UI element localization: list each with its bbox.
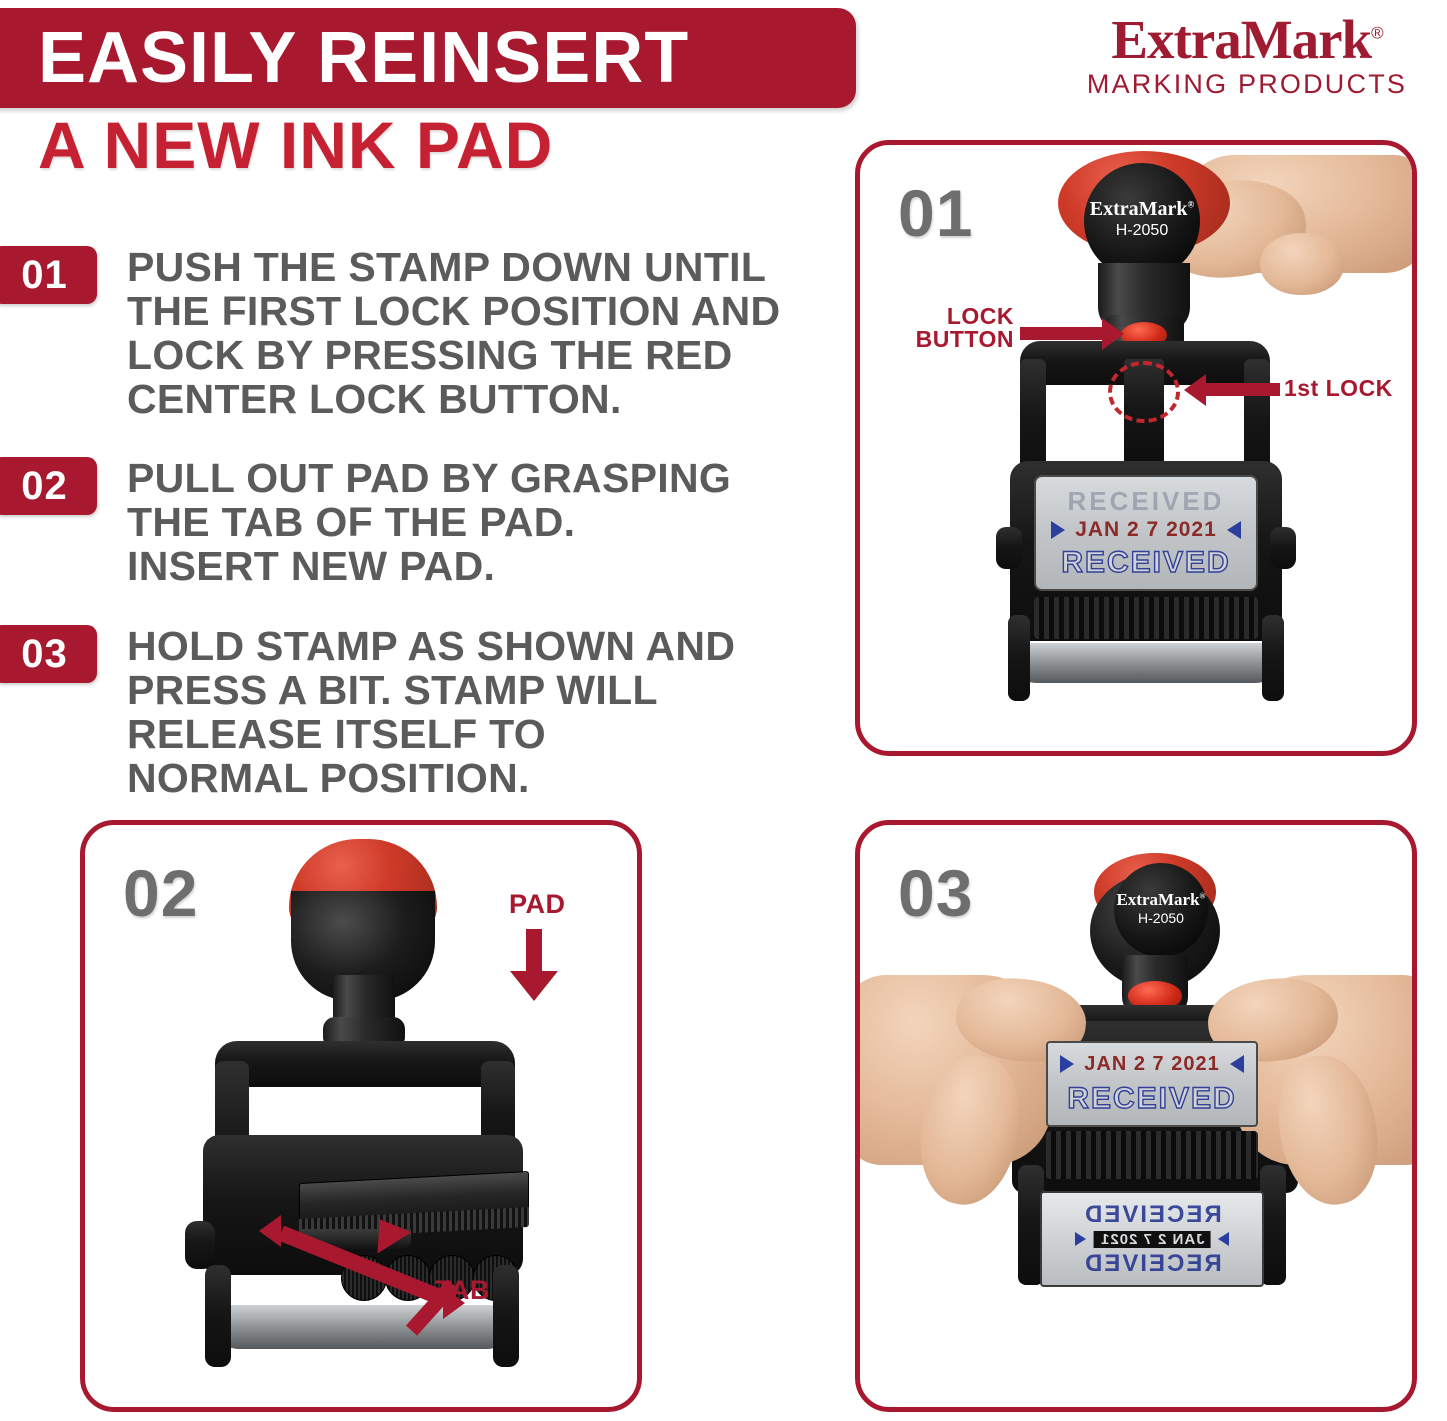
triangle-right-icon: [1075, 1232, 1086, 1246]
step-line: THE FIRST LOCK POSITION AND: [127, 290, 780, 334]
step-line: PUSH THE STAMP DOWN UNTIL: [127, 246, 780, 290]
stamp-cap-label: ExtraMark® H-2050: [1114, 863, 1208, 957]
plate-main-text: RECEIVED: [1048, 1082, 1256, 1116]
die-text-bottom: RECEIVED: [1083, 1250, 1222, 1278]
photo-panel-01: 01 ExtraMark® H-2050 RECEIVED: [855, 140, 1417, 756]
list-item: 01 PUSH THE STAMP DOWN UNTIL THE FIRST L…: [0, 246, 840, 421]
stamp-foot-left: [1008, 615, 1030, 701]
die-text-top: RECEIVED: [1083, 1201, 1222, 1229]
cap-model-text: H-2050: [1116, 219, 1168, 243]
stamp-base-plate: [1014, 643, 1278, 683]
list-item: 03 HOLD STAMP AS SHOWN AND PRESS A BIT. …: [0, 625, 840, 800]
lock-button-label-line1: LOCK: [874, 305, 1014, 328]
panel-number-03: 03: [898, 855, 973, 931]
mirrored-die-plate: RECEIVED JAN 2 7 2021 RECEIVED: [1040, 1191, 1264, 1287]
cap-brand-text: ExtraMark®: [1090, 199, 1195, 219]
step-line: CENTER LOCK BUTTON.: [127, 378, 780, 422]
date-text: JAN 2 7 2021: [1084, 1053, 1219, 1076]
step-line: PULL OUT PAD BY GRASPING: [127, 457, 731, 501]
stamp-side-knob-left: [185, 1221, 215, 1269]
photo-panel-02: 02 PAD TA: [80, 820, 642, 1412]
cap-model-text: H-2050: [1138, 908, 1184, 929]
first-lock-indicator: [1108, 361, 1180, 423]
date-text: JAN 2 7 2021: [1075, 518, 1217, 542]
date-wheel-strip: [1034, 597, 1258, 639]
brand-logo: ExtraMark® MARKING PRODUCTS: [1067, 12, 1427, 100]
logo-wordmark-text: ExtraMark: [1111, 9, 1371, 70]
page-title-line-2: A NEW INK PAD: [38, 112, 553, 178]
stamp-impression-plate: RECEIVED JAN 2 7 2021 RECEIVED: [1034, 475, 1258, 591]
list-item: 02 PULL OUT PAD BY GRASPING THE TAB OF T…: [0, 457, 840, 589]
title-banner: EASILY REINSERT: [0, 8, 856, 108]
die-date-text: JAN 2 7 2021: [1094, 1231, 1211, 1248]
date-wheel-strip: [1046, 1131, 1258, 1179]
triangle-left-icon: [1218, 1232, 1229, 1246]
plate-main-text: RECEIVED: [1036, 546, 1256, 580]
stamp-foot-right: [1262, 615, 1284, 701]
stamp-side-knob-right: [1270, 527, 1296, 569]
plate-ghost-text: RECEIVED: [1036, 486, 1256, 517]
lock-button-label-line2: BUTTON: [874, 328, 1014, 351]
step-text-01: PUSH THE STAMP DOWN UNTIL THE FIRST LOCK…: [127, 246, 780, 421]
triangle-right-icon: [1051, 521, 1065, 539]
tab-label: TAB: [435, 1277, 490, 1305]
step-badge-01: 01: [0, 246, 97, 304]
instruction-step-list: 01 PUSH THE STAMP DOWN UNTIL THE FIRST L…: [0, 246, 840, 836]
panel-number-01: 01: [898, 175, 973, 251]
step-line: PRESS A BIT. STAMP WILL: [127, 669, 735, 713]
logo-wordmark: ExtraMark®: [1067, 12, 1427, 67]
registered-trademark-icon: ®: [1371, 24, 1383, 43]
stamp-base-plate: [213, 1305, 513, 1349]
pad-label: PAD: [509, 891, 566, 919]
stamp-foot-right: [493, 1265, 519, 1367]
triangle-right-icon: [1060, 1055, 1074, 1073]
lock-button-arrow-head: [1102, 318, 1124, 350]
die-date-row: JAN 2 7 2021: [1075, 1231, 1230, 1248]
stamp-impression-plate: JAN 2 7 2021 RECEIVED: [1046, 1041, 1258, 1127]
page-title-line-1: EASILY REINSERT: [0, 22, 689, 94]
first-lock-arrow-head: [1184, 374, 1206, 406]
step-text-03: HOLD STAMP AS SHOWN AND PRESS A BIT. STA…: [127, 625, 735, 800]
step-line: HOLD STAMP AS SHOWN AND: [127, 625, 735, 669]
step-line: INSERT NEW PAD.: [127, 545, 731, 589]
pad-arrow-head: [510, 971, 558, 1001]
pad-arrow-shaft: [526, 929, 542, 973]
triangle-left-icon: [1227, 521, 1241, 539]
first-lock-arrow-shaft: [1206, 383, 1280, 396]
cap-registered-icon: ®: [1200, 891, 1206, 900]
date-band: JAN 2 7 2021: [1036, 518, 1256, 542]
first-lock-label: 1st LOCK: [1284, 377, 1393, 400]
panel-number-02: 02: [123, 855, 198, 931]
stamp-foot-left: [205, 1265, 231, 1367]
step-badge-03: 03: [0, 625, 97, 683]
logo-tagline: MARKING PRODUCTS: [1067, 69, 1427, 100]
stamp-cap-label: ExtraMark® H-2050: [1084, 163, 1200, 279]
step-line: RELEASE ITSELF TO: [127, 713, 735, 757]
finger: [1260, 233, 1344, 295]
step-line: NORMAL POSITION.: [127, 757, 735, 801]
step-line: THE TAB OF THE PAD.: [127, 501, 731, 545]
step-line: LOCK BY PRESSING THE RED: [127, 334, 780, 378]
stamp-side-knob-left: [996, 527, 1022, 569]
lock-button-arrow-shaft: [1020, 327, 1102, 340]
cap-brand-text: ExtraMark®: [1116, 891, 1205, 908]
photo-panel-03: 03 ExtraMark® H-2050 JAN 2 7 2021: [855, 820, 1417, 1412]
date-band: JAN 2 7 2021: [1048, 1053, 1256, 1076]
step-badge-02: 02: [0, 457, 97, 515]
lock-button-label: LOCK BUTTON: [874, 305, 1014, 352]
cap-registered-icon: ®: [1188, 199, 1195, 209]
pull-direction-arrow-head-left: [259, 1215, 281, 1247]
triangle-left-icon: [1230, 1055, 1244, 1073]
step-text-02: PULL OUT PAD BY GRASPING THE TAB OF THE …: [127, 457, 731, 589]
stamp-frame-top: [215, 1041, 515, 1087]
